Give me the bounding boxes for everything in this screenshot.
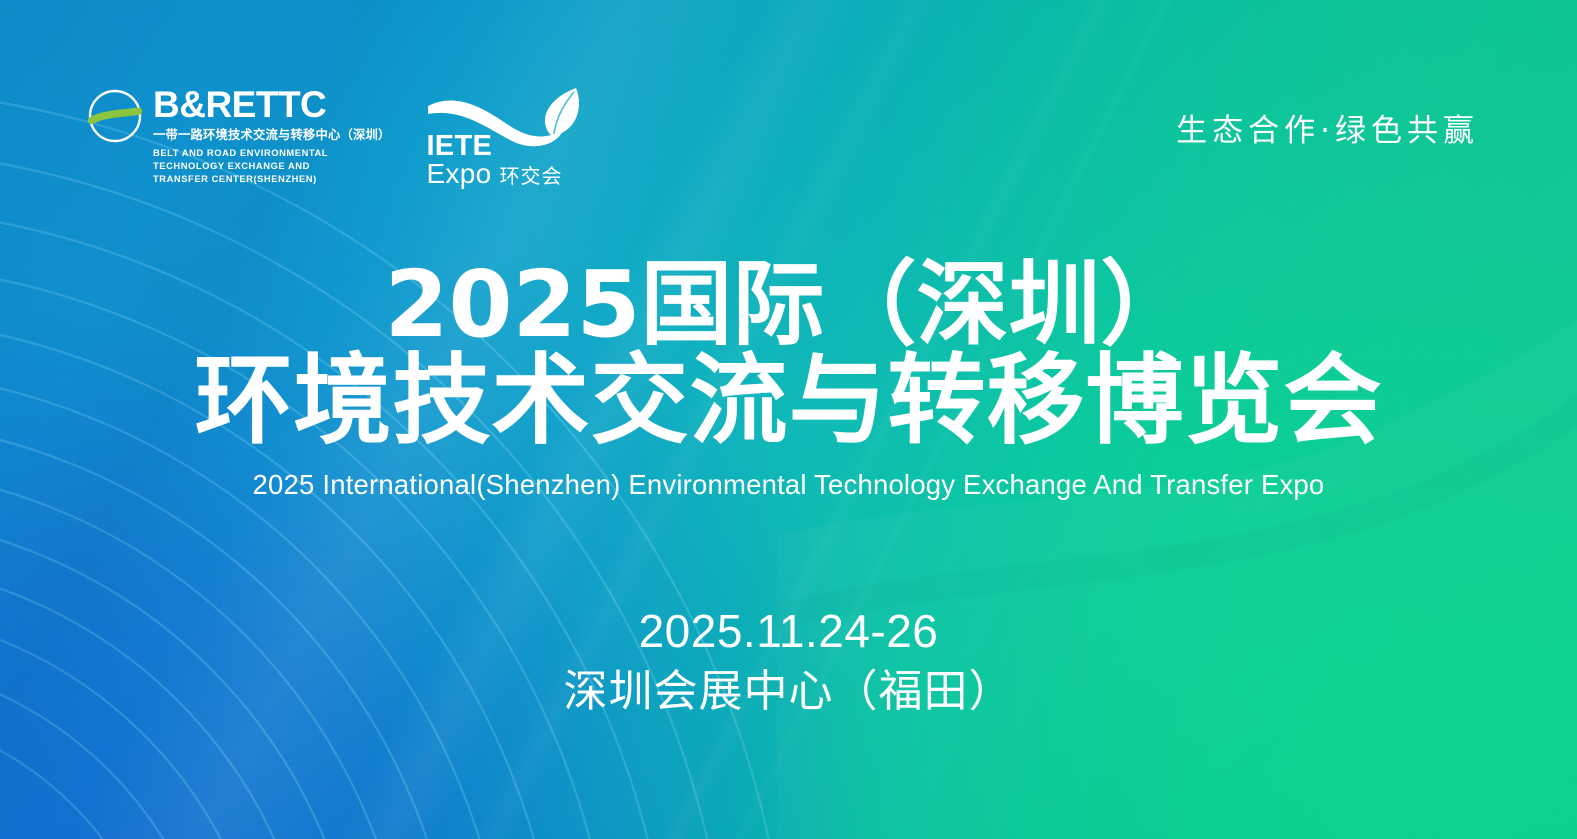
brettc-text-block: B&RETTC 一带一路环境技术交流与转移中心（深圳） BELT AND ROA… [153, 86, 390, 186]
brettc-chinese-name: 一带一路环境技术交流与转移中心（深圳） [153, 128, 390, 143]
iete-subtitle-row: Expo 环交会 [426, 160, 562, 188]
brettc-english-name: BELT AND ROAD ENVIRONMENTAL TECHNOLOGY E… [153, 146, 365, 186]
slogan-text: 生态合作·绿色共赢 [1176, 105, 1479, 150]
brettc-logo: B&RETTC 一带一路环境技术交流与转移中心（深圳） BELT AND ROA… [86, 86, 390, 186]
brettc-wordmark: B&RETTC [153, 86, 390, 123]
event-info-block: 2025.11.24-26 深圳会展中心（福田） [0, 604, 1577, 719]
title-chinese-line-1: 2025国际（深圳） [0, 258, 1577, 353]
logo-row: B&RETTC 一带一路环境技术交流与转移中心（深圳） BELT AND ROA… [86, 86, 586, 186]
globe-ellipse-icon [86, 87, 144, 145]
event-date: 2025.11.24-26 [0, 604, 1577, 658]
iete-expo-logo: IETE Expo 环交会 [424, 86, 586, 186]
event-banner: B&RETTC 一带一路环境技术交流与转移中心（深圳） BELT AND ROA… [0, 0, 1577, 839]
event-venue: 深圳会展中心（福田） [0, 666, 1577, 719]
title-chinese-line-2: 环境技术交流与转移博览会 [0, 349, 1577, 455]
iete-abbreviation: IETE [426, 132, 492, 161]
title-block: 2025国际（深圳） 环境技术交流与转移博览会 2025 Internation… [0, 258, 1577, 501]
iete-chinese-short: 环交会 [499, 166, 562, 186]
title-english-subtitle: 2025 International(Shenzhen) Environment… [0, 469, 1577, 501]
iete-expo-label: Expo [426, 160, 491, 188]
